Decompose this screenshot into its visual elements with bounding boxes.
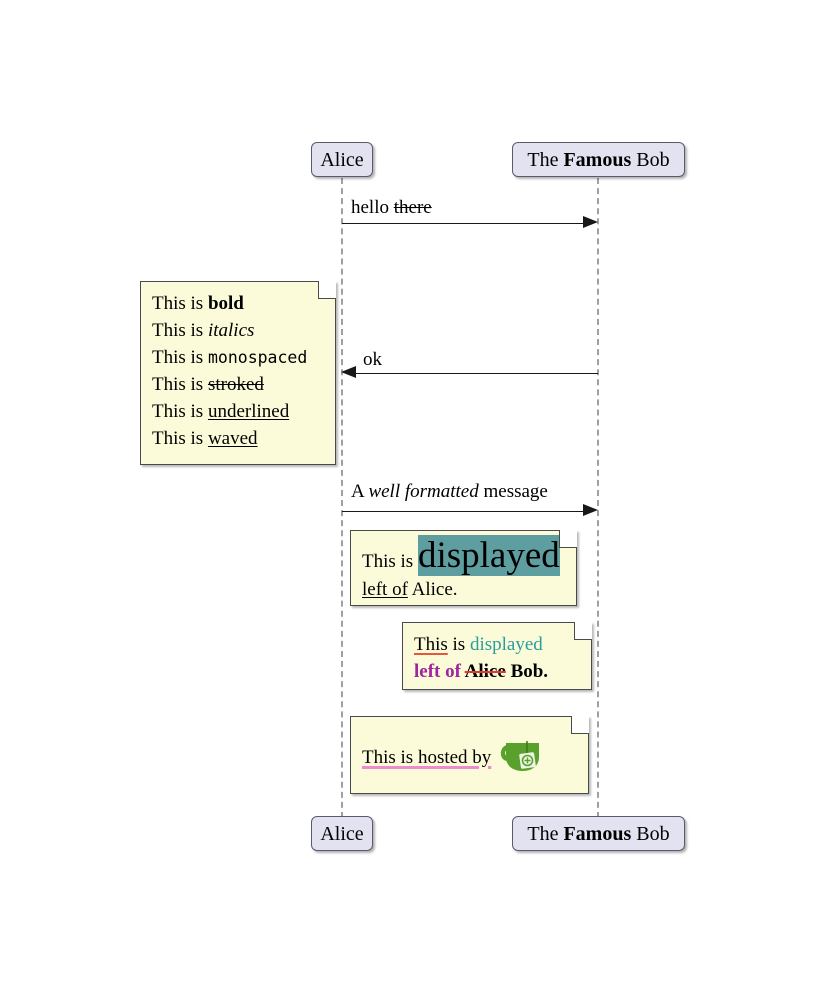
note-hosted-by: This is hosted by	[350, 716, 589, 794]
note-fold-corner-icon	[574, 622, 592, 640]
participant-bob-top[interactable]: The Famous Bob	[512, 142, 685, 177]
note-bold-text: Bob.	[506, 661, 548, 682]
note-purple-text: left of	[414, 661, 465, 682]
participant-bob-label: The Famous Bob	[527, 150, 669, 170]
note-line: This is monospaced	[152, 345, 324, 372]
note-underline-text: left of	[362, 579, 408, 600]
participant-bob-label-bold: Famous	[563, 823, 631, 845]
note-highlighted-text: displayed	[418, 535, 560, 576]
note-pink-underline-text: This is hosted by	[362, 747, 491, 768]
note-bold-text: bold	[208, 293, 244, 314]
note-line: This is waved	[152, 426, 324, 453]
participant-alice-label: Alice	[320, 150, 363, 170]
arrowhead-left-ok	[341, 366, 356, 378]
note-fold-corner-icon	[559, 530, 577, 548]
participant-bob-bottom[interactable]: The Famous Bob	[512, 816, 685, 851]
note-displayed-left-of-alice: This is displayed left of Alice.	[350, 530, 577, 606]
note-line: This is stroked	[152, 372, 324, 399]
message-italic-text: well formatted	[368, 481, 478, 502]
note-monospace-text: monospaced	[208, 348, 307, 367]
note-line: left of Alice Bob.	[414, 659, 580, 686]
participant-alice-bottom[interactable]: Alice	[311, 816, 373, 851]
note-line: This is displayed	[414, 632, 580, 659]
note-red-underline-text: This	[414, 634, 448, 655]
note-line: This is bold	[152, 291, 324, 318]
note-line: This is hosted by	[362, 735, 577, 782]
participant-alice-label: Alice	[320, 824, 363, 844]
sequence-diagram: Alice The Famous Bob hello there This is…	[0, 0, 826, 992]
note-fold-corner-icon	[571, 716, 589, 734]
message-label-hello-there: hello there	[351, 198, 432, 219]
lifeline-bob	[597, 178, 599, 818]
note-red-strike-text: Alice	[465, 661, 506, 682]
teacup-icon	[495, 735, 543, 782]
message-line-well-formatted	[342, 511, 590, 512]
arrowhead-right-hello-there	[583, 216, 598, 228]
note-line: This is displayed	[362, 537, 565, 574]
note-line: left of Alice.	[362, 577, 565, 604]
message-line-ok	[356, 373, 598, 374]
note-strikethrough-text: stroked	[208, 374, 264, 395]
participant-alice-top[interactable]: Alice	[311, 142, 373, 177]
note-line: This is underlined	[152, 399, 324, 426]
message-line-hello-there	[342, 223, 590, 224]
note-underline-text: underlined	[208, 401, 289, 422]
message-label-ok: ok	[363, 350, 382, 371]
note-formatting-styles: This is bold This is italics This is mon…	[140, 281, 336, 465]
arrowhead-right-well-formatted	[583, 504, 598, 516]
note-teal-text: displayed	[470, 634, 543, 655]
note-fold-corner-icon	[318, 281, 336, 299]
note-colored-formatting: This is displayed left of Alice Bob.	[402, 622, 592, 690]
lifeline-alice	[341, 178, 343, 818]
note-wave-text: waved	[208, 428, 258, 449]
note-italic-text: italics	[208, 320, 254, 341]
participant-bob-label: The Famous Bob	[527, 824, 669, 844]
message-label-well-formatted: A well formatted message	[351, 482, 548, 503]
note-line: This is italics	[152, 318, 324, 345]
message-struck-text: there	[394, 197, 432, 218]
participant-bob-label-bold: Famous	[563, 149, 631, 171]
